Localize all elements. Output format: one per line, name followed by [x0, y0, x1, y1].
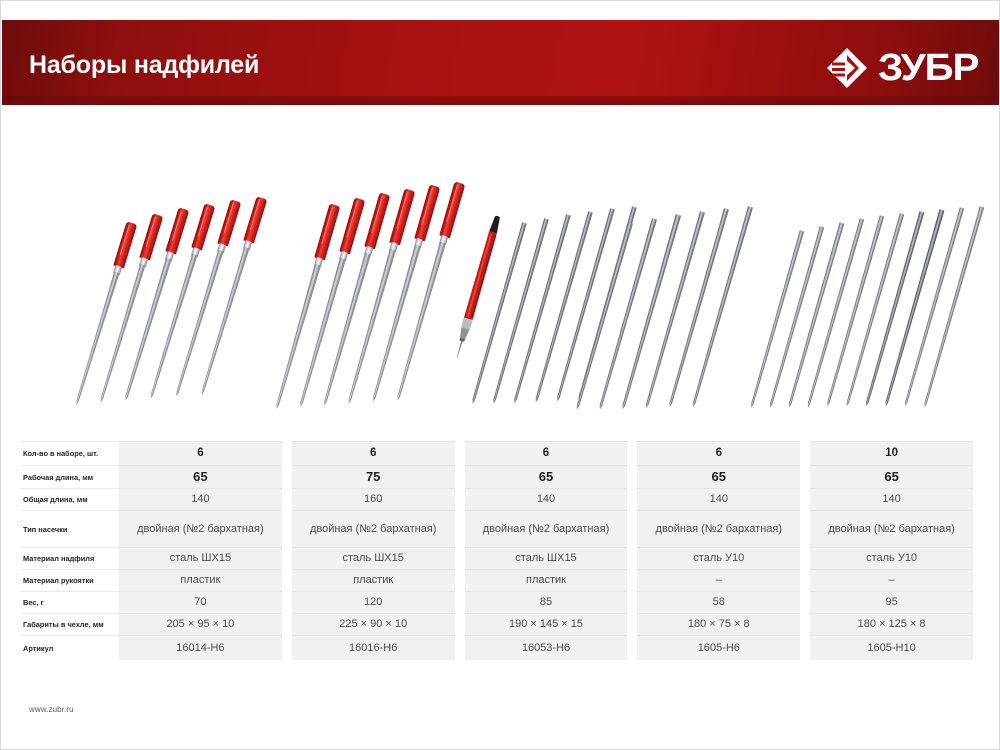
table-cell: сталь ШХ15	[119, 548, 282, 570]
table-cell: 6	[292, 441, 455, 466]
product-spec-page: Наборы надфилей ЗУБР	[0, 0, 1000, 750]
table-cell: 16016-H6	[292, 636, 455, 660]
file-group-4	[612, 105, 772, 431]
brand-logo: ЗУБР	[825, 46, 973, 90]
table-cell: 85	[465, 592, 628, 614]
row-label: Кол-во в наборе, шт.	[21, 441, 119, 466]
table-cell: 190 × 145 × 15	[465, 614, 628, 636]
table-cell: сталь ШХ15	[292, 548, 455, 570]
table-cell: 6	[637, 441, 800, 466]
table-cell: пластик	[465, 570, 628, 592]
table-cell: 65	[119, 466, 282, 489]
table-row: Тип насечки двойная (№2 бархатная) двойн…	[21, 511, 973, 548]
row-label: Вес, г	[21, 592, 119, 614]
table-cell: 6	[465, 441, 628, 466]
table-cell: двойная (№2 бархатная)	[810, 511, 973, 548]
table-cell: двойная (№2 бархатная)	[119, 511, 282, 548]
table-cell: 1605-H6	[637, 636, 800, 660]
table-cell: 140	[465, 489, 628, 511]
table-cell: 120	[292, 592, 455, 614]
table-cell: 6	[119, 441, 282, 466]
table-cell: 65	[637, 466, 800, 489]
page-title: Наборы надфилей	[29, 51, 259, 80]
table-cell: 75	[292, 466, 455, 489]
table-cell: 160	[292, 489, 455, 511]
table-cell: 70	[119, 592, 282, 614]
table-row: Кол-во в наборе, шт. 6 6 6 6 10	[21, 441, 973, 466]
table-cell: 16014-H6	[119, 636, 282, 660]
table-cell: двойная (№2 бархатная)	[637, 511, 800, 548]
file-group-5	[792, 105, 992, 431]
row-label: Общая длина, мм	[21, 489, 119, 511]
table-cell: 180 × 75 × 8	[637, 614, 800, 636]
table-cell: 58	[637, 592, 800, 614]
table-cell: сталь У10	[810, 548, 973, 570]
table-cell: 65	[810, 466, 973, 489]
table-cell: двойная (№2 бархатная)	[465, 511, 628, 548]
table-cell: 225 × 90 × 10	[292, 614, 455, 636]
row-label: Артикул	[21, 636, 119, 660]
zubr-diamond-arrow-icon	[825, 46, 869, 90]
table-row: Общая длина, мм 140 160 140 140 140	[21, 489, 973, 511]
row-label: Рабочая длина, мм	[21, 466, 119, 489]
table-cell: 95	[810, 592, 973, 614]
table-cell: 1605-H10	[810, 636, 973, 660]
table-cell: 16053-H6	[465, 636, 628, 660]
table-row: Габариты в чехле, мм 205 × 95 × 10 225 ×…	[21, 614, 973, 636]
table-cell: –	[637, 570, 800, 592]
brand-wordmark: ЗУБР	[878, 49, 978, 87]
row-label: Материал надфиля	[21, 548, 119, 570]
footer-url[interactable]: www.zubr.ru	[29, 705, 74, 714]
table-cell: двойная (№2 бархатная)	[292, 511, 455, 548]
row-label: Тип насечки	[21, 511, 119, 548]
product-photo	[2, 105, 999, 431]
table-row: Рабочая длина, мм 65 75 65 65 65	[21, 466, 973, 489]
table-cell: пластик	[292, 570, 455, 592]
header-banner: Наборы надфилей ЗУБР	[2, 20, 999, 105]
table-cell: 10	[810, 441, 973, 466]
table-cell: 65	[465, 466, 628, 489]
table-row: Материал рукоятки пластик пластик пласти…	[21, 570, 973, 592]
table-cell: сталь У10	[637, 548, 800, 570]
row-label: Материал рукоятки	[21, 570, 119, 592]
table-cell: 140	[637, 489, 800, 511]
row-label: Габариты в чехле, мм	[21, 614, 119, 636]
table-cell: 180 × 125 × 8	[810, 614, 973, 636]
table-row: Вес, г 70 120 85 58 95	[21, 592, 973, 614]
table-row: Артикул 16014-H6 16016-H6 16053-H6 1605-…	[21, 636, 973, 660]
spec-table: Кол-во в наборе, шт. 6 6 6 6 10 Рабочая …	[21, 441, 973, 660]
table-cell: сталь ШХ15	[465, 548, 628, 570]
table-row: Материал надфиля сталь ШХ15 сталь ШХ15 с…	[21, 548, 973, 570]
table-cell: пластик	[119, 570, 282, 592]
table-cell: 205 × 95 × 10	[119, 614, 282, 636]
table-cell: 140	[810, 489, 973, 511]
table-cell: 140	[119, 489, 282, 511]
table-cell: –	[810, 570, 973, 592]
